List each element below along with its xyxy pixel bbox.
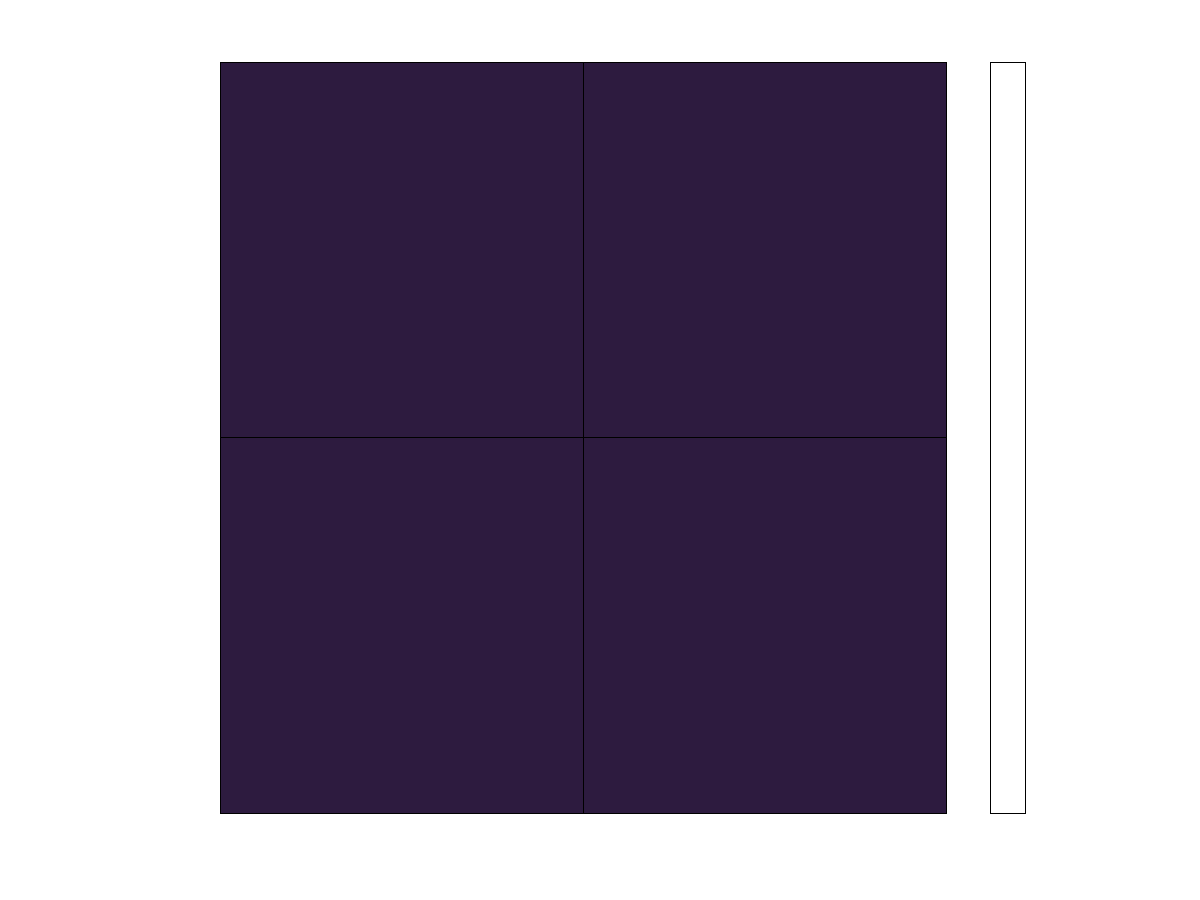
occupancy-map-figure bbox=[0, 0, 1200, 900]
quadrant-divider-vertical bbox=[583, 63, 584, 813]
colorbar[interactable] bbox=[990, 62, 1026, 814]
quadrant-divider-horizontal bbox=[221, 437, 946, 438]
colorbar-gradient bbox=[991, 63, 1025, 813]
heatmap-plot-area[interactable] bbox=[220, 62, 947, 814]
